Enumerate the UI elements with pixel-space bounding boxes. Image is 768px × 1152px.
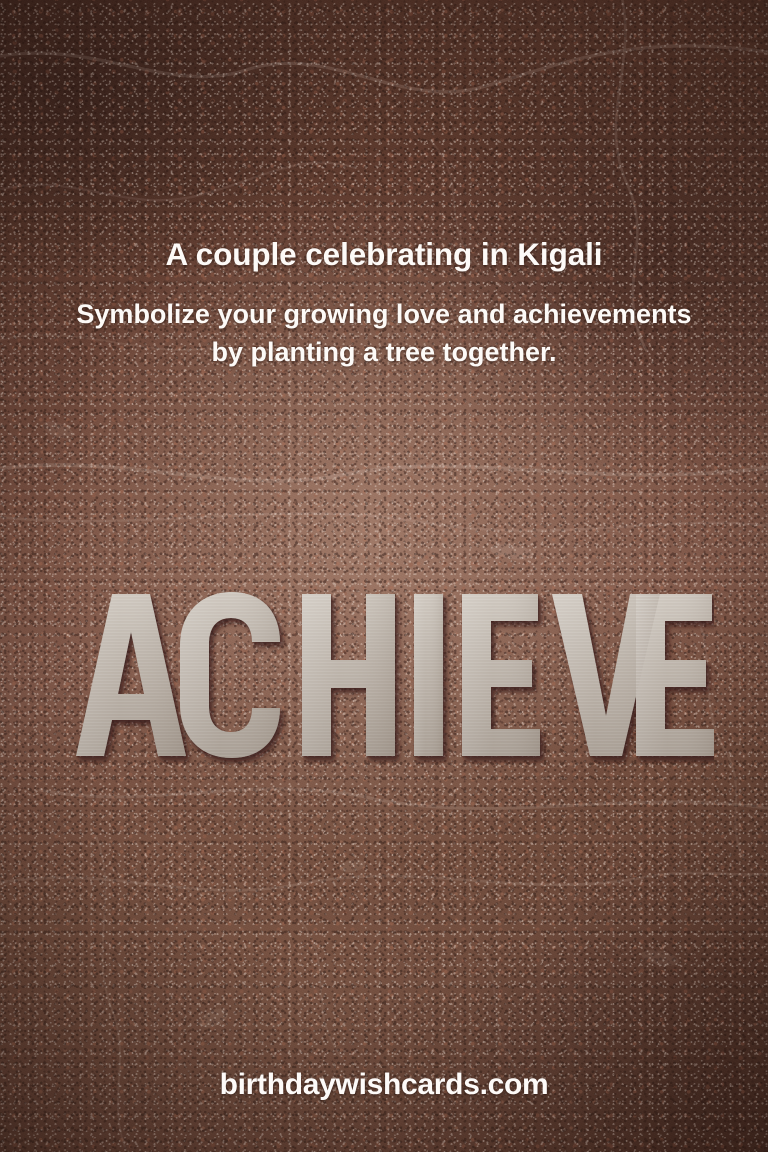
website-url: birthdaywishcards.com	[0, 1068, 768, 1102]
headline-text: A couple celebrating in Kigali	[0, 236, 768, 273]
achieve-wordmark	[0, 584, 768, 766]
vignette-overlay	[0, 0, 768, 1152]
achieve-wordmark-svg	[54, 584, 714, 766]
footer-block: birthdaywishcards.com	[0, 1068, 768, 1102]
greeting-card: A couple celebrating in Kigali Symbolize…	[0, 0, 768, 1152]
subhead-text: Symbolize your growing love and achievem…	[0, 295, 768, 372]
caption-block: A couple celebrating in Kigali Symbolize…	[0, 236, 768, 372]
achieve-letters	[76, 592, 714, 758]
